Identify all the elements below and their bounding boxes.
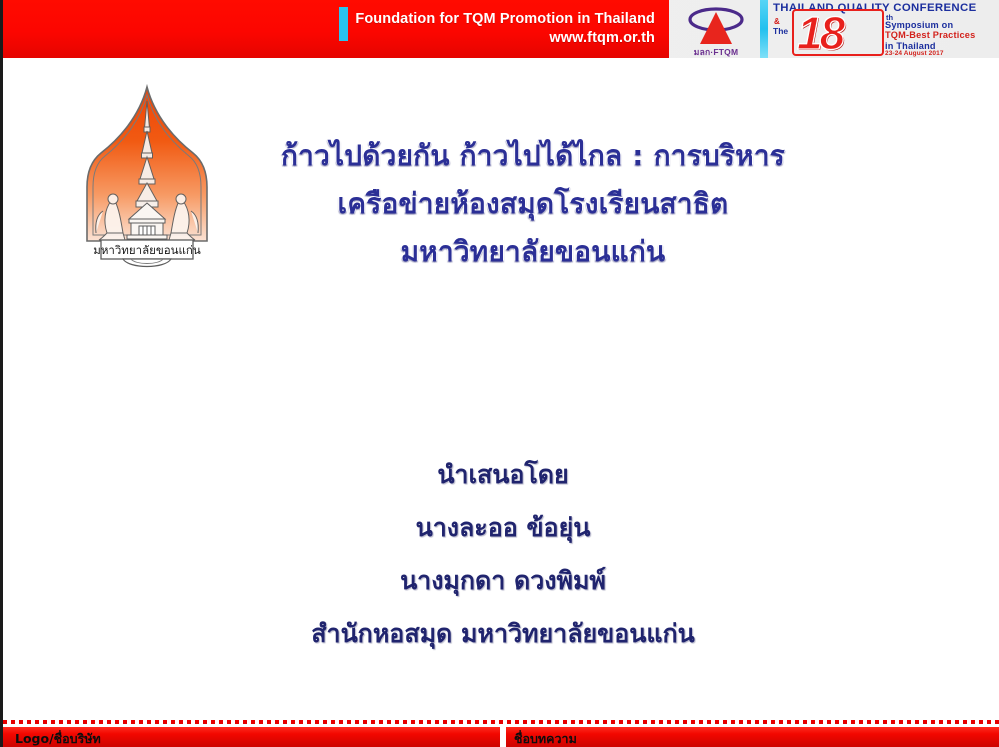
ftqm-logo-label: มลก·FTQM [675,45,757,58]
ftqm-logo: มลก·FTQM [675,4,757,58]
cyan-accent-bar-left [339,7,348,41]
seal-text: มหาวิทยาลัยขอนแก่น [93,243,201,257]
conference-ampersand: & [774,17,780,26]
footer-bar: Logo/ชื่อบริษัท ชื่อบทความ [3,727,999,747]
conference-subtitle-line-2: TQM-Best Practices [885,30,975,40]
footer-right-segment: ชื่อบทความ [506,727,999,747]
footer-right-label: ชื่อบทความ [514,729,577,747]
conference-logo: THAILAND QUALITY CONFERENCE & The 18 th … [771,1,999,58]
slide-title: ก้าวไปด้วยกัน ก้าวไปได้ไกล : การบริหาร เ… [233,132,833,276]
khon-kaen-university-seal-icon: มหาวิทยาลัยขอนแก่น [81,83,213,273]
presenter-name-2: นางมุกดา ดวงพิมพ์ [203,554,803,607]
foundation-website[interactable]: www.ftqm.or.th [355,29,655,48]
title-line-3: มหาวิทยาลัยขอนแก่น [233,228,833,276]
presenter-name-1: นางละออ ข้อยุ่น [203,501,803,554]
cyan-accent-bar-right [760,0,768,58]
conference-number: 18 [797,10,842,56]
presenter-affiliation: สำนักหอสมุด มหาวิทยาลัยขอนแก่น [203,607,803,660]
footer-dotted-divider [3,720,999,724]
conference-subtitle-block: Symposium on TQM-Best Practices in Thail… [885,20,975,51]
conference-subtitle-line-1: Symposium on [885,20,975,30]
footer-left-label: Logo/ชื่อบริษัท [15,729,101,747]
header-banner: Foundation for TQM Promotion in Thailand… [3,0,999,58]
footer-left-segment: Logo/ชื่อบริษัท [3,727,500,747]
title-line-1: ก้าวไปด้วยกัน ก้าวไปได้ไกล : การบริหาร [233,132,833,180]
ftqm-logo-icon [675,4,757,48]
foundation-text-block: Foundation for TQM Promotion in Thailand… [355,10,655,48]
foundation-name: Foundation for TQM Promotion in Thailand [355,10,655,29]
slide-canvas: Foundation for TQM Promotion in Thailand… [0,0,999,747]
title-line-2: เครือข่ายห้องสมุดโรงเรียนสาธิต [233,180,833,228]
conference-date: 23-24 August 2017 [885,50,944,57]
presenter-block: นำเสนอโดย นางละออ ข้อยุ่น นางมุกดา ดวงพิ… [203,448,803,660]
presenter-heading: นำเสนอโดย [203,448,803,501]
conference-the: The [773,26,788,36]
